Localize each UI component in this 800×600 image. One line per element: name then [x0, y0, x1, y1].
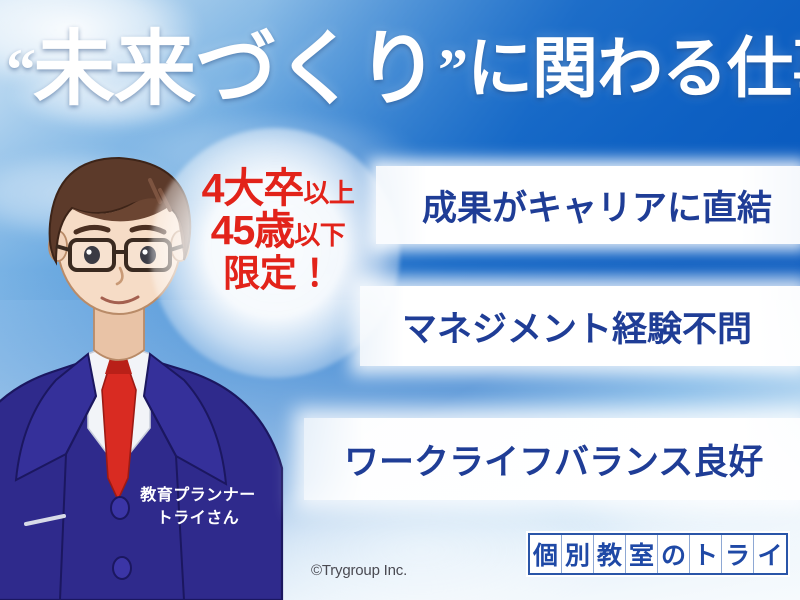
logo-char: 室	[626, 535, 658, 573]
eligibility-badge: 4大卒 以上 45歳 以下 限定！	[178, 168, 378, 292]
logo-char: ラ	[722, 535, 754, 573]
headline-quote-close: ”	[438, 40, 467, 100]
logo-char: 教	[594, 535, 626, 573]
headline: “ 未来づくり ” に関わる仕事	[6, 14, 800, 126]
logo-char: の	[658, 535, 690, 573]
advertisement-banner: “ 未来づくり ” に関わる仕事	[0, 0, 800, 600]
badge-line-1: 4大卒 以上	[178, 168, 378, 210]
badge-age-text: 45歳	[211, 210, 295, 252]
caption-line-name: トライさん	[118, 507, 278, 530]
caption-line-role: 教育プランナー	[118, 484, 278, 507]
feature-banner-1: 成果がキャリアに直結	[376, 166, 800, 244]
logo-char: ト	[690, 535, 722, 573]
feature-banner-3: ワークライフバランス良好	[304, 418, 800, 500]
headline-tail-text: に関わる仕事	[467, 37, 800, 103]
character-caption: 教育プランナー トライさん	[118, 484, 278, 530]
badge-degree-text: 4大卒	[202, 168, 304, 210]
feature-banner-2: マネジメント経験不問	[360, 286, 800, 366]
company-logo: 個 別 教 室 の ト ラ イ	[528, 533, 788, 575]
badge-line-2: 45歳 以下	[178, 210, 378, 252]
badge-line-3: 限定！	[178, 255, 378, 293]
copyright-text: ©Trygroup Inc.	[311, 562, 407, 579]
feature-banner-2-text: マネジメント経験不問	[402, 301, 752, 352]
feature-banner-1-text: 成果がキャリアに直結	[422, 180, 772, 231]
logo-char: 別	[562, 535, 594, 573]
badge-degree-suffix: 以上	[303, 180, 354, 207]
headline-quote-open: “	[6, 40, 35, 100]
badge-age-suffix: 以下	[294, 222, 345, 249]
feature-banner-3-text: ワークライフバランス良好	[344, 434, 763, 485]
logo-char: イ	[754, 535, 786, 573]
logo-char: 個	[530, 535, 562, 573]
headline-main-text: 未来づくり	[33, 29, 438, 111]
